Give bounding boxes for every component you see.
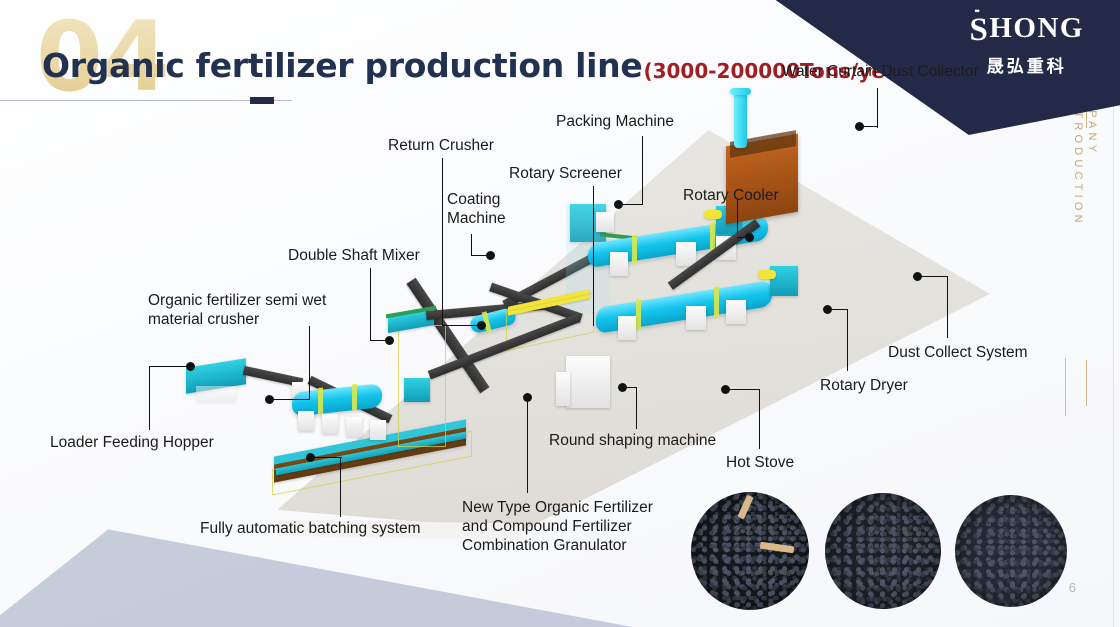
dot-rotary-cooler <box>745 233 754 242</box>
callout-return-crusher: Return Crusher <box>388 136 494 155</box>
logo-chinese-name: 晟弘重科 <box>970 52 1084 77</box>
line-rotary-screener <box>593 186 594 326</box>
dot-combination-granulator <box>523 393 532 402</box>
granulator-base-3 <box>346 417 362 437</box>
page-number: 6 <box>1069 580 1076 595</box>
line-batching-v <box>340 457 341 517</box>
line-return-crusher <box>442 158 443 325</box>
dot-coating-machine <box>486 251 495 260</box>
dot-rotary-dryer <box>823 305 832 314</box>
callout-double-shaft-mixer: Double Shaft Mixer <box>288 246 420 265</box>
title-rule <box>0 100 292 101</box>
granulator-base-1 <box>298 411 314 431</box>
line-semi-wet-v <box>309 326 310 400</box>
dot-double-shaft-mixer <box>385 336 394 345</box>
company-logo: S HONG 晟弘重科 <box>970 14 1084 77</box>
callout-dust-collect-system: Dust Collect System <box>888 343 1028 362</box>
cooler-base-1 <box>610 252 628 276</box>
dryer-base-3 <box>726 300 746 324</box>
line-loader-h <box>149 366 189 367</box>
hot-stove-annex <box>556 372 570 406</box>
title-rule-accent <box>250 97 274 104</box>
dryer-base-1 <box>618 316 636 340</box>
callout-loader-feeding-hopper: Loader Feeding Hopper <box>50 433 214 452</box>
water-curtain-cap <box>730 88 751 95</box>
line-water-curtain-v <box>877 88 878 128</box>
packing-machine-model <box>596 212 614 232</box>
line-semi-wet-h <box>270 399 310 400</box>
line-hot-stove-v <box>759 389 760 449</box>
dot-round-shaping <box>618 383 627 392</box>
slide-canvas: Water Curtain Dust Collector Packing Mac… <box>0 0 1120 627</box>
dust-collect-chute-b <box>704 210 722 219</box>
callout-rotary-cooler: Rotary Cooler <box>683 186 779 205</box>
granule-photo-3 <box>955 495 1067 607</box>
side-rail-line-bottom <box>1086 360 1087 406</box>
page-title-text: Organic fertilizer production line <box>42 46 642 85</box>
line-return-crusher-h <box>442 325 480 326</box>
line-round-shaping-v <box>636 387 637 429</box>
cooler-base-2 <box>676 242 696 266</box>
line-coating-v <box>471 234 472 256</box>
dot-loader-hopper <box>186 362 195 371</box>
dot-packing-machine <box>614 200 623 209</box>
granulator-base-4 <box>370 420 386 440</box>
dot-hot-stove <box>721 385 730 394</box>
logo-wordmark: S HONG <box>970 14 1084 47</box>
dot-return-crusher <box>477 321 486 330</box>
line-packing-v <box>642 136 643 205</box>
line-double-shaft-mixer <box>370 268 371 340</box>
line-rotary-dryer-v <box>847 309 848 371</box>
dot-semi-wet-crusher <box>265 395 274 404</box>
dust-collect-chute-a <box>758 270 776 279</box>
granulator-base-2 <box>322 414 338 434</box>
line-hot-stove-h <box>726 389 760 390</box>
callout-round-shaping-machine: Round shaping machine <box>549 431 716 450</box>
callout-fully-automatic-batching-system: Fully automatic batching system <box>200 519 421 538</box>
line-dust-collect-h <box>918 276 948 277</box>
hopper-support <box>196 386 236 402</box>
callout-packing-machine: Packing Machine <box>556 112 674 131</box>
callout-hot-stove: Hot Stove <box>726 453 794 472</box>
dryer-base-2 <box>686 306 706 330</box>
line-loader-v <box>149 366 150 430</box>
dot-dust-collect <box>913 272 922 281</box>
callout-semi-wet-material-crusher: Organic fertilizer semi wet material cru… <box>148 291 326 329</box>
side-rail-line-lower <box>1065 358 1066 416</box>
water-curtain-dust-collector-model <box>734 92 747 148</box>
callout-combination-granulator: New Type Organic Fertilizer and Compound… <box>462 498 653 556</box>
callout-rotary-dryer: Rotary Dryer <box>820 376 908 395</box>
round-shaping-machine-model <box>404 378 430 402</box>
line-dust-collect-v <box>947 276 948 338</box>
granule-photo-2 <box>825 493 941 609</box>
hot-stove-model <box>566 356 610 408</box>
callout-rotary-screener: Rotary Screener <box>509 164 622 183</box>
logo-wordmark-text: HONG <box>989 14 1084 43</box>
callout-coating-machine: Coating Machine <box>447 190 506 228</box>
callout-water-curtain-dust-collector: Water Curtain Dust Collector <box>782 62 979 81</box>
line-granulator-v <box>527 397 528 493</box>
logo-initial: S <box>970 14 990 47</box>
dot-batching-system <box>306 453 315 462</box>
dot-water-curtain <box>855 122 864 131</box>
